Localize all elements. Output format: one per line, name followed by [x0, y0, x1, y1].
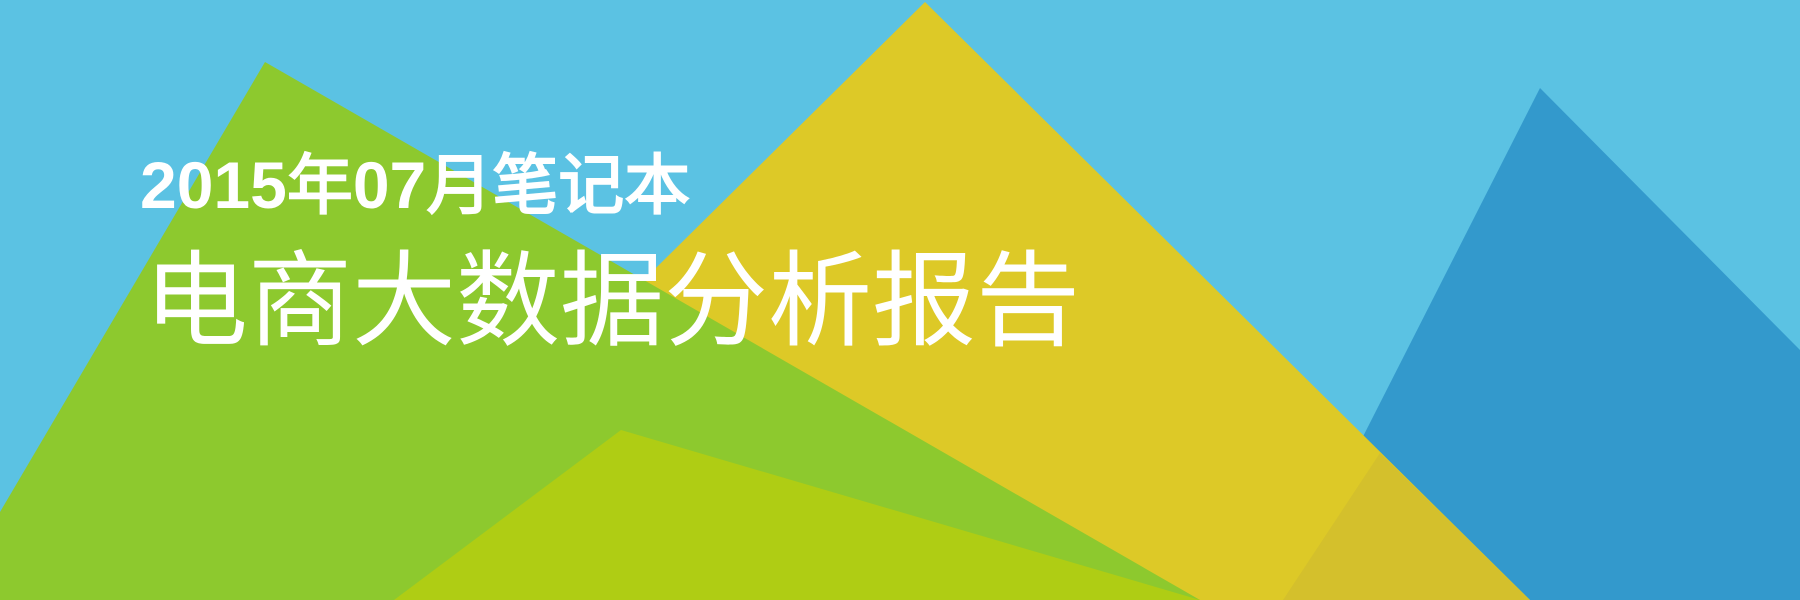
report-cover-slide: 2015年07月笔记本 电商大数据分析报告 [0, 0, 1800, 600]
background-geometric-artwork [0, 0, 1800, 600]
